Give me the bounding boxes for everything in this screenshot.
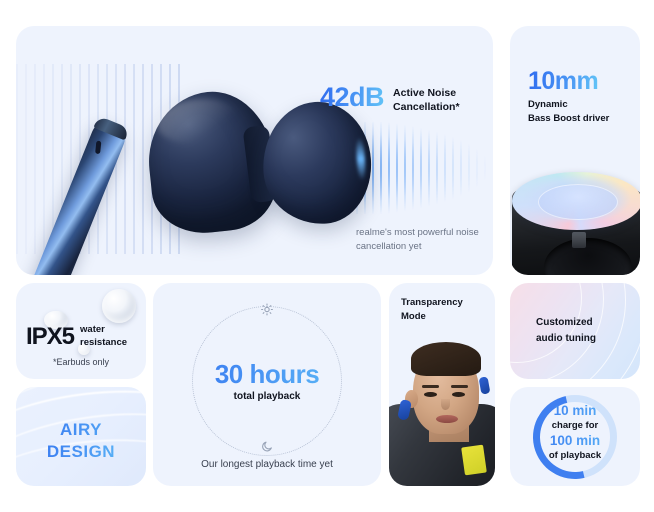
charge-label-2: of playback xyxy=(510,449,640,463)
charge-label-1: charge for xyxy=(510,419,640,433)
driver-cavity xyxy=(544,238,632,275)
audio-tuning-card: Customized audio tuning xyxy=(510,283,640,379)
ipx5-label-line2: resistance xyxy=(80,337,127,350)
model-wearing-earbuds-photo xyxy=(389,338,495,486)
transparency-title-line1: Transparency xyxy=(401,296,463,310)
airy-design-line2: DESIGN xyxy=(16,441,146,463)
anc-label-line1: Active Noise xyxy=(393,86,460,100)
charge-value-2: 100 min xyxy=(510,433,640,449)
model-hair xyxy=(411,342,481,376)
model-eyebrow xyxy=(422,385,439,389)
transparency-title-line2: Mode xyxy=(401,310,463,324)
audio-tuning-line1: Customized xyxy=(536,315,596,331)
charge-value-1: 10 min xyxy=(510,403,640,419)
jacket-patch xyxy=(461,445,487,476)
driver-label-line2: Bass Boost driver xyxy=(528,112,609,126)
charge-text-group: 10 min charge for 100 min of playback xyxy=(510,403,640,462)
model-nose xyxy=(441,399,450,410)
anc-note: realme's most powerful noise cancellatio… xyxy=(356,226,479,255)
airy-design-card: AIRY DESIGN xyxy=(16,387,146,486)
audio-tuning-text: Customized audio tuning xyxy=(536,315,596,346)
anc-note-line1: realme's most powerful noise xyxy=(356,226,479,240)
ipx5-label: water resistance xyxy=(80,324,127,350)
earbud-product-image xyxy=(71,68,331,275)
transparency-mode-card: Transparency Mode xyxy=(389,283,495,486)
model-mouth xyxy=(436,415,458,423)
driver-diaphragm xyxy=(512,172,640,230)
airy-design-text: AIRY DESIGN xyxy=(16,419,146,463)
driver-label-line1: Dynamic xyxy=(528,98,609,112)
water-droplet-icon xyxy=(102,289,136,323)
ipx5-value: IPX5 xyxy=(26,323,74,351)
model-eye xyxy=(452,392,465,397)
sun-icon xyxy=(261,303,274,321)
driver-label: Dynamic Bass Boost driver xyxy=(528,98,609,127)
water-resistance-card: IPX5 water resistance *Earbuds only xyxy=(16,283,146,379)
driver-product-image xyxy=(510,166,640,275)
anc-value: 42dB xyxy=(320,84,384,111)
driver-feature-card: 10mm Dynamic Bass Boost driver xyxy=(510,26,640,275)
model-eyebrow xyxy=(451,385,468,389)
audio-tuning-line2: audio tuning xyxy=(536,331,596,347)
anc-note-line2: cancellation yet xyxy=(356,240,479,254)
moon-icon xyxy=(261,440,274,458)
anc-label: Active Noise Cancellation* xyxy=(393,84,460,114)
ipx5-note: *Earbuds only xyxy=(16,357,146,367)
ipx5-headline: IPX5 water resistance xyxy=(26,323,127,351)
transparency-title: Transparency Mode xyxy=(401,296,463,324)
model-eye xyxy=(424,392,437,397)
playback-value: 30 hours xyxy=(153,359,381,390)
ipx5-label-line1: water xyxy=(80,324,127,337)
airy-design-line1: AIRY xyxy=(16,419,146,441)
playback-time-card: 30 hours total playback Our longest play… xyxy=(153,283,381,486)
playback-label: total playback xyxy=(153,391,381,402)
driver-value: 10mm xyxy=(528,69,598,94)
fast-charge-card: 10 min charge for 100 min of playback xyxy=(510,387,640,486)
product-feature-infographic: 42dB Active Noise Cancellation* realme's… xyxy=(0,0,654,512)
playback-footer-note: Our longest playback time yet xyxy=(153,459,381,470)
anc-feature-card: 42dB Active Noise Cancellation* realme's… xyxy=(16,26,493,275)
anc-label-line2: Cancellation* xyxy=(393,100,460,114)
anc-headline: 42dB Active Noise Cancellation* xyxy=(320,84,460,114)
worn-earbud-right xyxy=(479,376,491,394)
